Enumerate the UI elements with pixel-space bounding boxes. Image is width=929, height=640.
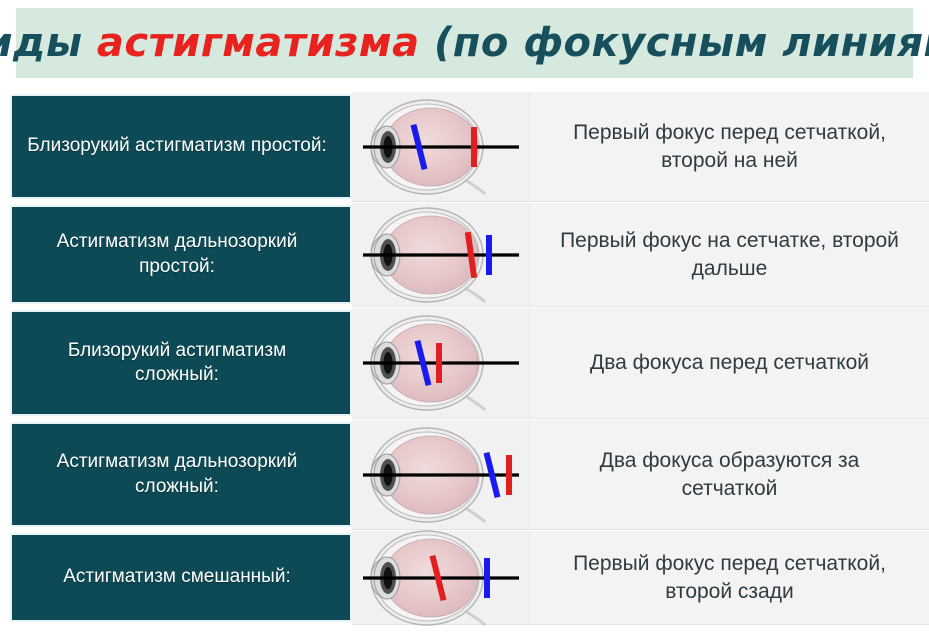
astigmatism-row: Астигматизм смешанный:Первый фокус перед… — [0, 531, 929, 625]
description-text: Два фокуса перед сетчаткой — [590, 349, 869, 377]
optic-nerve — [465, 396, 485, 410]
eye-diagram-cell — [352, 420, 529, 530]
description-cell: Два фокуса перед сетчаткой — [529, 308, 929, 419]
type-label-box[interactable]: Астигматизм дальнозоркий простой: — [10, 205, 352, 304]
type-label-box[interactable]: Астигматизм дальнозоркий сложный: — [10, 422, 352, 527]
eye-diagram-wrapper — [361, 96, 521, 198]
eye-diagram-mixed — [361, 527, 521, 629]
description-text: Два фокуса образуются за сетчаткой — [552, 447, 907, 502]
astigmatism-row: Астигматизм дальнозоркий простой:Первый … — [0, 203, 929, 307]
astigmatism-types-table: Близорукий астигматизм простой:Первый фо… — [0, 92, 929, 632]
description-cell: Первый фокус перед сетчаткой, второй на … — [529, 92, 929, 202]
eye-diagram-hyperopic-compound — [361, 424, 521, 526]
astigmatism-row: Близорукий астигматизм сложный:Два фокус… — [0, 308, 929, 419]
eye-diagram-wrapper — [361, 527, 521, 629]
description-cell: Первый фокус перед сетчаткой, второй сза… — [529, 531, 929, 625]
eye-diagram-wrapper — [361, 312, 521, 414]
eye-diagram-cell — [352, 531, 529, 625]
optic-nerve — [465, 288, 485, 302]
type-label-cell: Астигматизм дальнозоркий сложный: — [0, 420, 352, 530]
optic-nerve — [465, 180, 485, 194]
title-banner: Виды астигматизма (по фокусным линиям) — [16, 8, 913, 78]
description-cell: Первый фокус на сетчатке, второй дальше — [529, 203, 929, 307]
type-label-text: Астигматизм смешанный: — [63, 565, 290, 589]
type-label-cell: Близорукий астигматизм сложный: — [0, 308, 352, 419]
type-label-text: Близорукий астигматизм простой: — [27, 134, 326, 158]
type-label-box[interactable]: Астигматизм смешанный: — [10, 533, 352, 622]
title-prefix: Виды — [0, 20, 97, 66]
eye-diagram-cell — [352, 203, 529, 307]
eye-diagram-hyperopic-simple — [361, 204, 521, 306]
type-label-cell: Астигматизм смешанный: — [0, 531, 352, 625]
description-cell: Два фокуса образуются за сетчаткой — [529, 420, 929, 530]
title-suffix: (по фокусным линиям) — [420, 20, 929, 66]
optic-nerve — [465, 611, 485, 625]
eye-diagram-myopic-simple — [361, 96, 521, 198]
type-label-box[interactable]: Близорукий астигматизм простой: — [10, 94, 352, 199]
page-title: Виды астигматизма (по фокусным линиям) — [0, 23, 929, 63]
type-label-cell: Астигматизм дальнозоркий простой: — [0, 203, 352, 307]
eye-diagram-myopic-compound — [361, 312, 521, 414]
astigmatism-row: Астигматизм дальнозоркий сложный:Два фок… — [0, 420, 929, 530]
type-label-text: Астигматизм дальнозоркий сложный: — [26, 450, 328, 499]
optic-nerve — [465, 508, 485, 522]
description-text: Первый фокус на сетчатке, второй дальше — [552, 227, 907, 282]
eye-diagram-wrapper — [361, 204, 521, 306]
type-label-text: Астигматизм дальнозоркий простой: — [26, 230, 328, 279]
description-text: Первый фокус перед сетчаткой, второй сза… — [552, 550, 907, 605]
astigmatism-row: Близорукий астигматизм простой:Первый фо… — [0, 92, 929, 202]
type-label-text: Близорукий астигматизм сложный: — [26, 339, 328, 388]
eye-diagram-cell — [352, 308, 529, 419]
type-label-box[interactable]: Близорукий астигматизм сложный: — [10, 310, 352, 416]
title-highlight: астигматизма — [97, 20, 420, 66]
description-text: Первый фокус перед сетчаткой, второй на … — [552, 119, 907, 174]
eye-diagram-cell — [352, 92, 529, 202]
type-label-cell: Близорукий астигматизм простой: — [0, 92, 352, 202]
eye-diagram-wrapper — [361, 424, 521, 526]
